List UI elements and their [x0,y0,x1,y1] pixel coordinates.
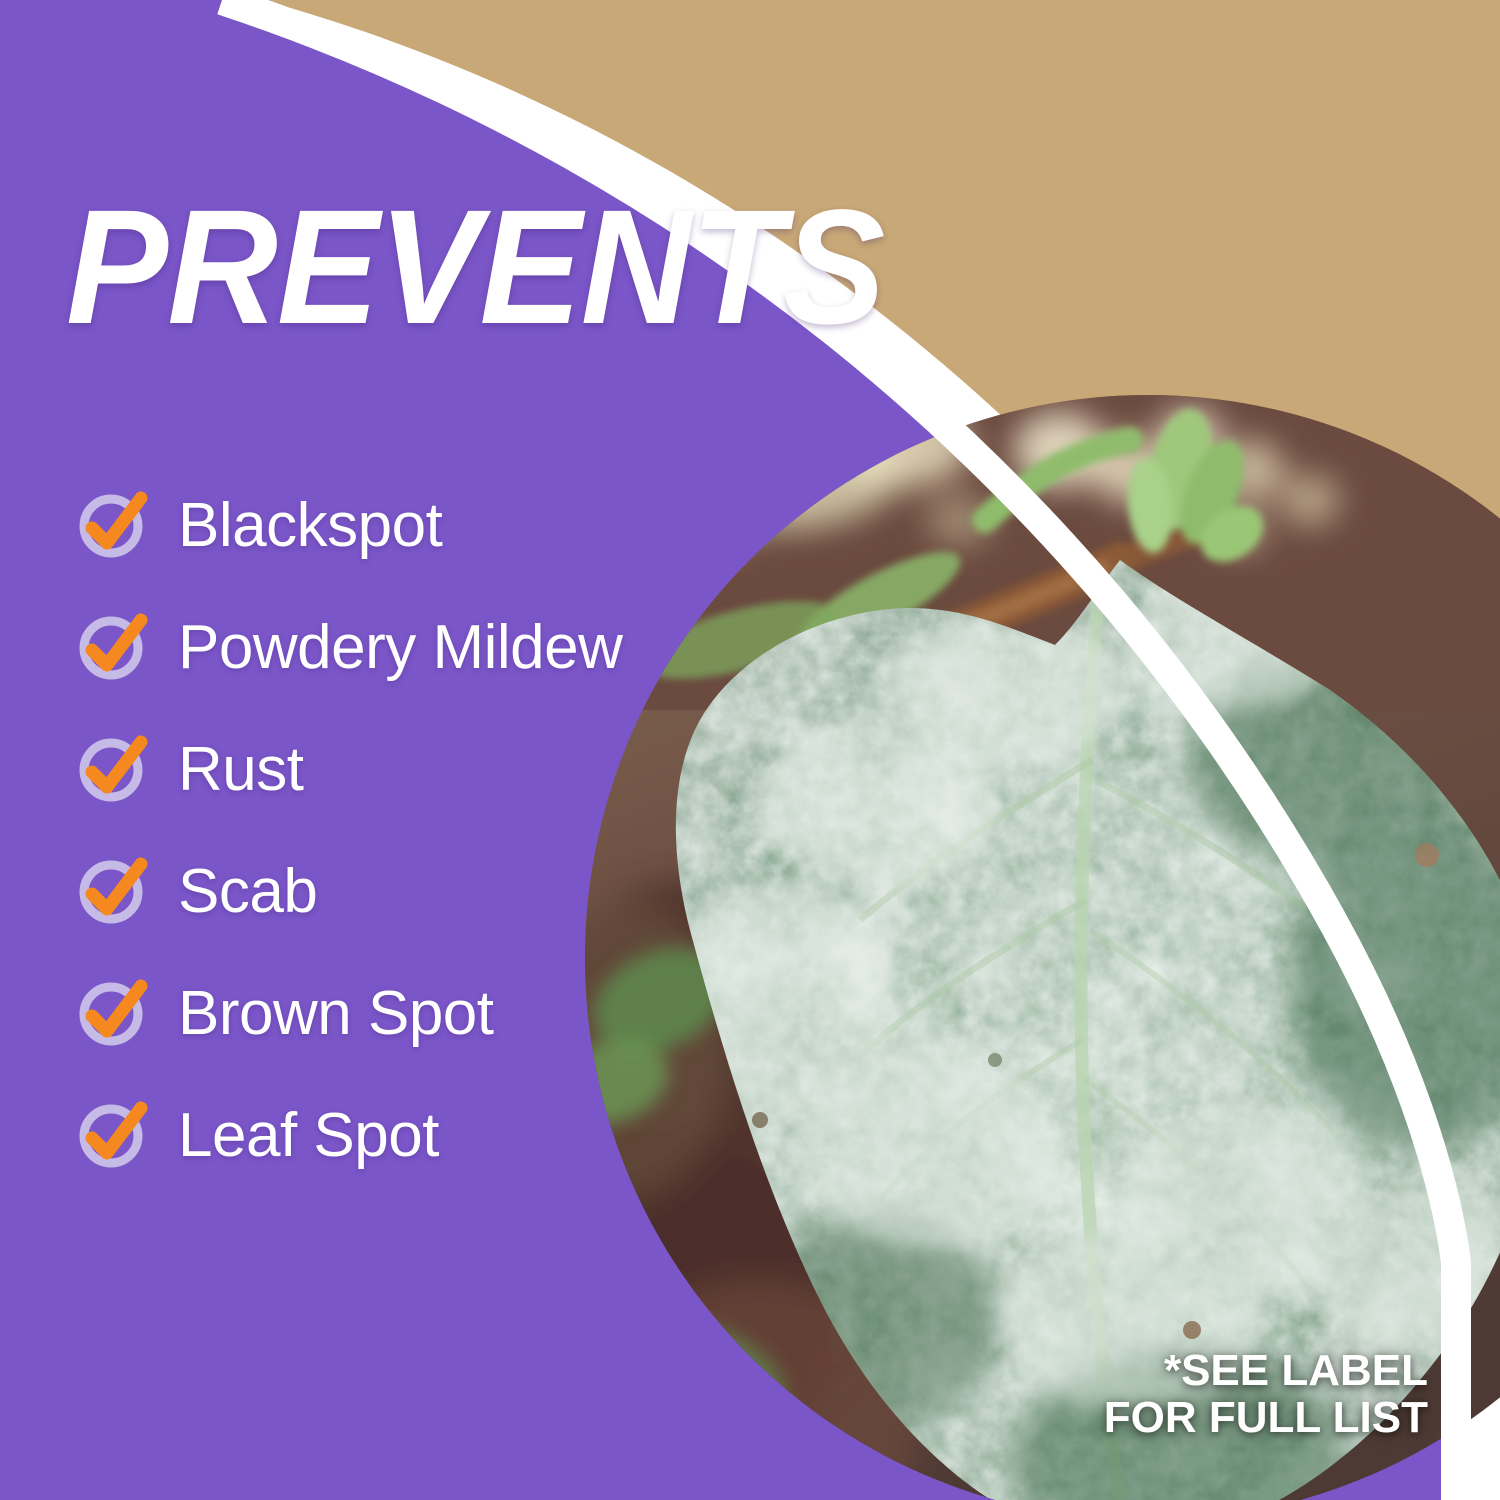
list-item-label: Powdery Mildew [178,617,622,679]
list-item: Rust [78,709,698,831]
list-item: Powdery Mildew [78,587,698,709]
list-item: Brown Spot [78,953,698,1075]
check-circle-icon [78,733,150,807]
list-item-label: Scab [178,861,317,923]
footnote-line-1: *SEE LABEL [1104,1347,1428,1395]
prevents-checklist: Blackspot Powdery Mildew Rust [78,465,698,1197]
list-item: Scab [78,831,698,953]
list-item-label: Blackspot [178,495,442,557]
list-item-label: Rust [178,739,303,801]
page-title: PREVENTS [66,185,884,348]
check-circle-icon [78,1099,150,1173]
list-item-label: Brown Spot [178,983,494,1045]
check-circle-icon [78,977,150,1051]
promo-graphic: PREVENTS Blackspot Powdery Mildew [0,0,1500,1500]
footnote-disclaimer: *SEE LABEL FOR FULL LIST [1104,1347,1428,1442]
list-item: Leaf Spot [78,1075,698,1197]
list-item: Blackspot [78,465,698,587]
check-circle-icon [78,855,150,929]
check-circle-icon [78,611,150,685]
check-circle-icon [78,489,150,563]
footnote-line-2: FOR FULL LIST [1104,1394,1428,1442]
list-item-label: Leaf Spot [178,1105,439,1167]
